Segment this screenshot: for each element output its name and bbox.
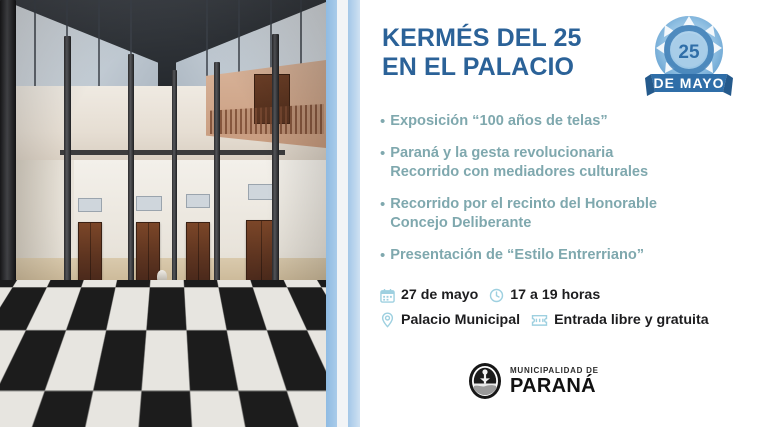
bullet-list: • Exposición “100 años de telas” • Paran… <box>380 112 748 278</box>
municipalidad-de-parana-logo: MUNICIPALIDAD DE PARANÁ <box>467 358 657 404</box>
poster-root: KERMÉS DEL 25 EN EL PALACIO <box>0 0 760 427</box>
bullet-dot-icon: • <box>380 144 385 163</box>
poster-title: KERMÉS DEL 25 EN EL PALACIO <box>382 24 632 82</box>
bullet-dot-icon: • <box>380 195 385 214</box>
bullet-text: Recorrido por el recinto del Honorable C… <box>390 195 657 233</box>
list-item: • Presentación de “Estilo Entrerriano” <box>380 246 748 265</box>
25-de-mayo-cockade-badge: 25 DE MAYO <box>643 12 735 98</box>
calendar-icon <box>380 288 395 303</box>
bullet-dot-icon: • <box>380 112 385 131</box>
stripe-white <box>337 0 348 427</box>
stripe-lightblue-1 <box>326 0 337 427</box>
info-row-date-time: 27 de mayo 17 a 19 horas <box>380 286 748 304</box>
info-row-place-ticket: Palacio Municipal Entrada libre y gratui… <box>380 311 748 329</box>
bullet-text: Presentación de “Estilo Entrerriano” <box>390 246 644 265</box>
event-time: 17 a 19 horas <box>510 286 600 304</box>
photo-vignette <box>0 0 326 427</box>
argentine-flag-stripes <box>326 0 360 427</box>
event-date: 27 de mayo <box>401 286 478 304</box>
list-item: • Recorrido por el recinto del Honorable… <box>380 195 748 233</box>
bullet-text: Exposición “100 años de telas” <box>390 112 607 131</box>
logo-line-2: PARANÁ <box>510 376 599 397</box>
content-panel: KERMÉS DEL 25 EN EL PALACIO <box>360 0 760 427</box>
palacio-municipal-courtyard-photo <box>0 0 326 427</box>
event-ticket-info: Entrada libre y gratuita <box>554 311 709 329</box>
bullet-dot-icon: • <box>380 246 385 265</box>
event-info: 27 de mayo 17 a 19 horas Pal <box>380 286 748 336</box>
badge-ribbon-text: DE MAYO <box>653 75 724 91</box>
title-line-2: EN EL PALACIO <box>382 53 632 82</box>
event-place: Palacio Municipal <box>401 311 520 329</box>
title-line-1: KERMÉS DEL 25 <box>382 24 632 53</box>
bullet-text: Paraná y la gesta revolucionaria Recorri… <box>390 144 648 182</box>
map-pin-icon <box>380 312 395 328</box>
logo-line-1: MUNICIPALIDAD DE <box>510 366 599 376</box>
ticket-icon <box>531 314 548 327</box>
parana-emblem-icon <box>467 362 503 400</box>
clock-icon <box>489 288 504 303</box>
logo-wordmark: MUNICIPALIDAD DE PARANÁ <box>510 366 599 397</box>
list-item: • Paraná y la gesta revolucionaria Recor… <box>380 144 748 182</box>
list-item: • Exposición “100 años de telas” <box>380 112 748 131</box>
stripe-lightblue-2 <box>348 0 360 427</box>
badge-number: 25 <box>678 42 700 63</box>
